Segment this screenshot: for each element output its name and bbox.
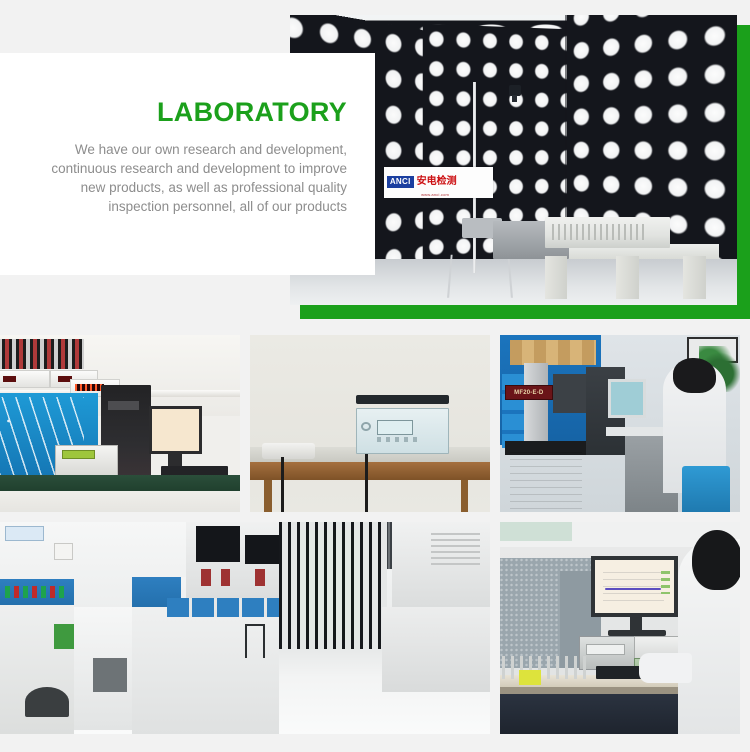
photo-laser-marking: MF20-E-D [500,335,740,512]
eut-vent-slots [552,224,645,241]
control-panel-buttons [5,586,64,599]
cardboard-boxes [510,340,596,365]
anci-chinese-text: 安电检测 [417,177,457,187]
laser-head [553,374,587,413]
chamber-indicator [255,569,265,586]
measurement-monitor [591,556,677,617]
photo-esd-test [250,335,490,512]
engineer-arm [639,653,692,683]
engineer-head [692,530,740,589]
laser-base-cabinet [510,452,582,512]
chamber-window [196,526,240,562]
workstation-monitor [608,379,646,418]
anci-logo-text: ANCI [387,176,414,188]
esd-discharge-gun [262,443,315,459]
plot-legend [661,571,670,595]
esd-generator-unit [356,408,450,454]
table-leg [616,256,638,300]
cabinet-vent-slots [431,533,480,567]
power-supply-unit [0,370,50,388]
gallery-tile-esd-generator-test-table[interactable] [250,335,490,512]
chamber-window [245,535,279,565]
gallery-row-1: MF20-E-D [0,335,750,512]
measurement-plot [603,572,664,601]
gallery-grid: MF20-E-D [0,335,750,734]
esd-cable [281,457,284,512]
equipment-under-test-unit [545,217,670,249]
page-title: LABORATORY [28,98,347,128]
laser-column [524,363,548,448]
right-workbench [382,607,490,692]
hero-description: We have our own research and development… [28,140,347,216]
gallery-tile-lab-bench-test-equipment[interactable] [0,335,240,512]
stool-frame [245,624,265,658]
ceiling-probe-antenna [509,85,521,96]
gallery-tile-laser-marking-workstation[interactable]: MF20-E-D [500,335,740,512]
gallery-row-2 [0,522,750,734]
strip-curtain [279,522,387,649]
chamber-indicator [221,569,231,586]
laboratory-page: ANCI 安电检测 www.anci.com LABORATORY We hav… [0,0,750,752]
anci-banner-sign: ANCI 安电检测 www.anci.com [384,167,494,197]
workbench-blue-drawers [167,598,280,617]
blue-stool [682,466,730,512]
component-samples [502,656,588,679]
chamber-indicator [201,569,211,586]
wooden-table-edge [250,462,490,480]
yellow-tool-case [519,670,541,685]
gallery-tile-engineer-measurement-station[interactable] [500,522,740,734]
workbench-surface [0,475,240,491]
esd-control-buttons [377,437,419,442]
motor-assembly [25,687,69,717]
gallery-tile-environmental-test-room[interactable] [0,522,490,734]
technician-head [673,358,716,393]
anci-url-text: www.anci.com [421,192,449,197]
table-leg [461,480,468,512]
photo-lab-bench [0,335,240,512]
instrument-handle [356,395,450,404]
terminal-block-rack [0,339,84,369]
machine-model-label: MF20-E-D [505,385,553,401]
computer-monitor [149,406,202,454]
antenna-mast-base [447,255,513,297]
photo-test-room [0,522,490,734]
table-leg [683,256,705,300]
wall-power-outlet [54,543,74,560]
plot-trace-line [605,588,661,590]
window-pane [500,522,572,541]
monitor-stand [168,452,182,466]
table-leg [264,480,271,512]
door-access-panel [93,658,127,692]
wall-sign [5,526,44,541]
hero-text-card: LABORATORY We have our own research and … [0,53,375,275]
hero-section: ANCI 安电检测 www.anci.com LABORATORY We hav… [0,0,750,330]
table-leg [545,256,567,300]
esd-connector-ring [361,422,371,432]
esd-display-screen [377,420,414,435]
floor [0,491,240,512]
photo-measurement-station [500,522,740,734]
esd-cable [365,454,368,512]
